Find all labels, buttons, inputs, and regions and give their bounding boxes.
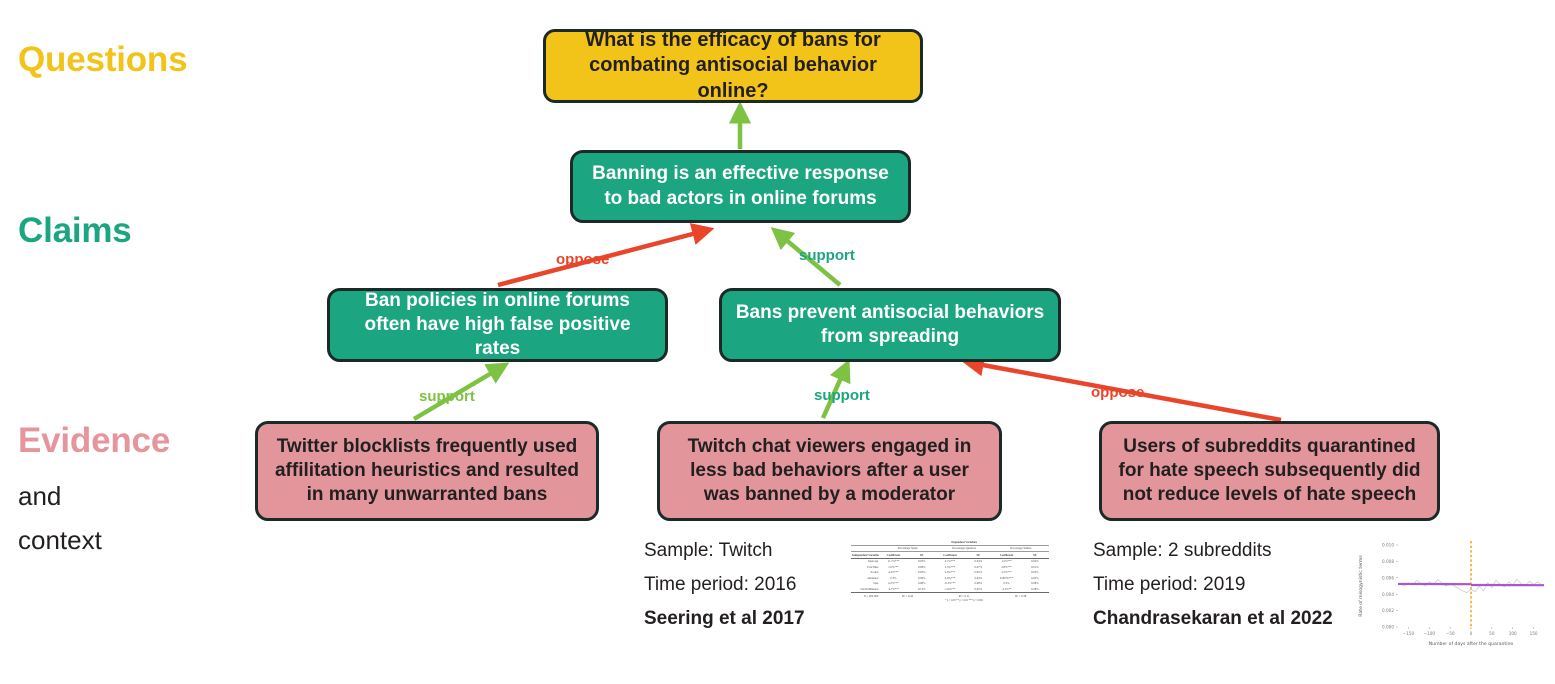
svg-text:0.006: 0.006: [1382, 575, 1394, 580]
regression-table-thumbnail[interactable]: Dependent VariablesPercentage SpamPercen…: [851, 539, 1049, 631]
diagram-canvas: Questions Claims Evidence and context Wh…: [0, 0, 1555, 684]
svg-text:0.002: 0.002: [1382, 608, 1394, 613]
metadata-reddit: Sample: 2 subreddits Time period: 2019 C…: [1093, 540, 1333, 630]
svg-text:0.010: 0.010: [1382, 543, 1394, 548]
evidence-node-twitter-blocklists[interactable]: Twitter blocklists frequently used affil…: [255, 421, 599, 521]
row-label-evidence-sub-and: and: [18, 481, 61, 512]
svg-text:150: 150: [1530, 631, 1538, 636]
svg-text:0.008: 0.008: [1382, 559, 1394, 564]
claim-node-bans-prevent-spread[interactable]: Bans prevent antisocial behaviors from s…: [719, 288, 1061, 362]
row-label-evidence-sub-context: context: [18, 525, 102, 556]
edge-label-support-evidence-mid: support: [814, 387, 870, 404]
evidence-node-subreddit-quarantine[interactable]: Users of subreddits quarantined for hate…: [1099, 421, 1440, 521]
row-label-evidence: Evidence: [18, 421, 170, 461]
edge-label-support-evidence-left: support: [419, 388, 475, 405]
svg-text:0.004: 0.004: [1382, 592, 1394, 597]
question-node[interactable]: What is the efficacy of bans for combati…: [543, 29, 923, 103]
misogyny-rate-chart-thumbnail[interactable]: 0.0000.0020.0040.0060.0080.010−150−100−5…: [1352, 537, 1550, 649]
svg-text:0.000: 0.000: [1382, 625, 1394, 630]
claim-node-false-positives[interactable]: Ban policies in online forums often have…: [327, 288, 668, 362]
edge-label-support-claim-top: support: [799, 247, 855, 264]
svg-text:50: 50: [1489, 631, 1495, 636]
svg-text:100: 100: [1509, 631, 1517, 636]
svg-text:−150: −150: [1403, 631, 1415, 636]
claim-node-banning-effective[interactable]: Banning is an effective response to bad …: [570, 150, 911, 223]
evidence-node-twitch-chat[interactable]: Twitch chat viewers engaged in less bad …: [657, 421, 1002, 521]
misogyny-rate-chart: 0.0000.0020.0040.0060.0080.010−150−100−5…: [1352, 537, 1550, 649]
svg-text:−100: −100: [1424, 631, 1436, 636]
metadata-reddit-time-period: Time period: 2019: [1093, 574, 1333, 596]
row-label-questions: Questions: [18, 40, 187, 80]
row-label-claims: Claims: [18, 211, 132, 251]
edge-label-oppose-evidence-right: oppose: [1091, 384, 1144, 401]
edge-label-oppose-claim-top: oppose: [556, 251, 609, 268]
metadata-twitch-time-period: Time period: 2016: [644, 574, 805, 596]
regression-table: Dependent VariablesPercentage SpamPercen…: [851, 539, 1049, 604]
metadata-reddit-sample: Sample: 2 subreddits: [1093, 540, 1333, 562]
svg-text:Number of days after the quara: Number of days after the quarantine: [1429, 641, 1514, 647]
metadata-twitch-sample: Sample: Twitch: [644, 540, 805, 562]
svg-text:−50: −50: [1446, 631, 1455, 636]
svg-text:0: 0: [1470, 631, 1473, 636]
svg-text:Rate of misogynistic terms: Rate of misogynistic terms: [1358, 555, 1364, 617]
table-note-row: * p < 0.05 ** p < 0.01 *** p < 0.001: [851, 598, 1049, 603]
metadata-twitch: Sample: Twitch Time period: 2016 Seering…: [644, 540, 805, 630]
metadata-twitch-citation: Seering et al 2017: [644, 608, 805, 630]
metadata-reddit-citation: Chandrasekaran et al 2022: [1093, 608, 1333, 630]
